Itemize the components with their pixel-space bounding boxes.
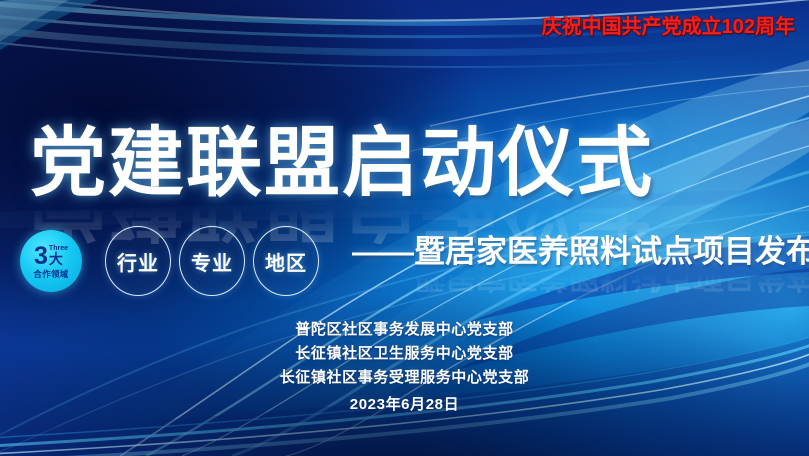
event-date: 2023年6月28日 — [0, 393, 809, 417]
organizer-block: 普陀区社区事务发展中心党支部 长征镇社区卫生服务中心党支部 长征镇社区事务受理服… — [0, 318, 809, 417]
organizer-line-1: 普陀区社区事务发展中心党支部 — [0, 318, 809, 342]
main-title-wrapper: 党建联盟启动仪式 — [30, 124, 670, 208]
badge-unit: 大 — [49, 253, 63, 266]
badge-caption: 合作领域 — [33, 270, 68, 279]
organizer-line-3: 长征镇社区事务受理服务中心党支部 — [0, 366, 809, 390]
circle-item-industry: 行业 — [105, 226, 171, 296]
anniversary-slogan: 庆祝中国共产党成立102周年 — [542, 10, 795, 39]
page-title: 党建联盟启动仪式 — [30, 124, 670, 204]
circle-item-region: 地区 — [253, 226, 319, 296]
badge-number: 3 — [34, 245, 48, 267]
badge-number-annotation: Three 大 — [49, 245, 68, 266]
circle-item-profession: 专业 — [179, 226, 245, 296]
cooperation-areas-group: 行业 专业 地区 — [105, 226, 319, 296]
badge-top-row: 3 Three 大 — [34, 245, 68, 267]
poster-canvas: 庆祝中国共产党成立102周年 党建联盟启动仪式 党建联盟启动仪式 3 Three… — [0, 0, 809, 456]
organizer-line-2: 长征镇社区卫生服务中心党支部 — [0, 342, 809, 366]
page-subtitle: ——暨居家医养照料试点项目发布 — [352, 232, 809, 272]
three-areas-badge: 3 Three 大 合作领域 — [20, 230, 82, 292]
